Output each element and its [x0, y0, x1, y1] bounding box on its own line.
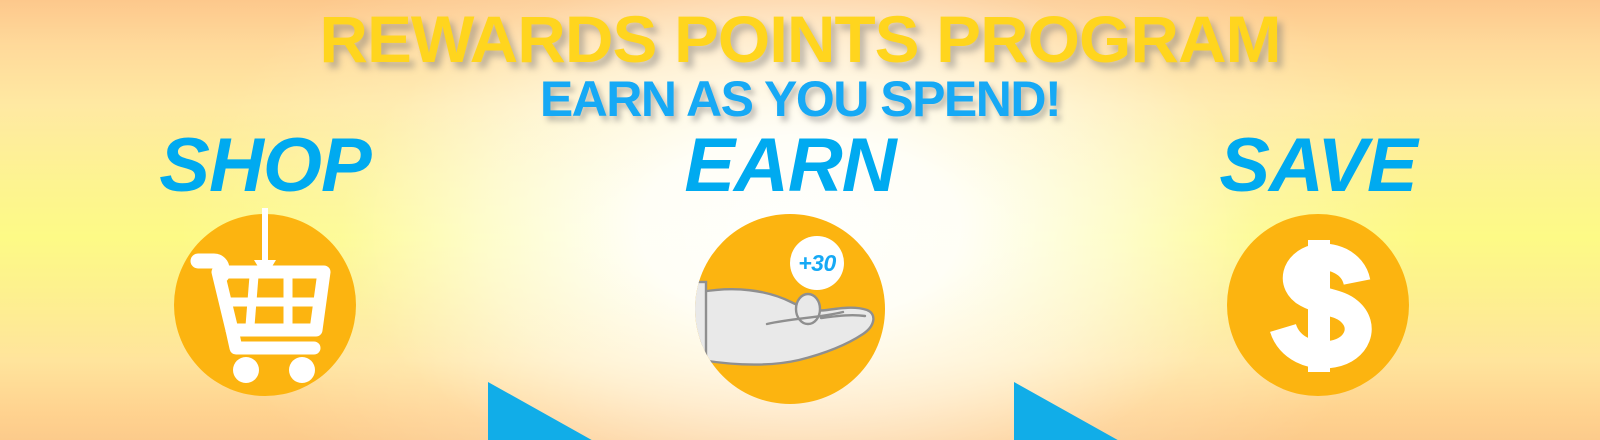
step-save-label: SAVE [1168, 128, 1468, 214]
step-shop: SHOP [115, 128, 415, 396]
arrow-right-icon-2 [1014, 382, 1132, 440]
page-subtitle: EARN AS YOU SPEND! [0, 74, 1600, 124]
step-shop-label: SHOP [115, 128, 415, 214]
banner-header: REWARDS POINTS PROGRAM EARN AS YOU SPEND… [0, 0, 1600, 124]
dollar-sign-icon [1227, 214, 1409, 396]
open-hand-icon [695, 214, 885, 404]
points-badge-value: +30 [798, 250, 836, 277]
arrow-right-icon-1 [488, 382, 606, 440]
shopping-cart-icon [174, 214, 356, 396]
step-earn: EARN [640, 128, 940, 404]
points-badge: +30 [790, 236, 844, 290]
rewards-program-banner: REWARDS POINTS PROGRAM EARN AS YOU SPEND… [0, 0, 1600, 440]
steps-row: SHOP [0, 128, 1600, 440]
step-earn-icon-circle: +30 [695, 214, 885, 404]
step-shop-icon-circle [174, 214, 356, 396]
step-earn-label: EARN [640, 128, 940, 214]
page-title: REWARDS POINTS PROGRAM [0, 0, 1600, 72]
step-save-icon-circle [1227, 214, 1409, 396]
step-save: SAVE [1168, 128, 1468, 396]
